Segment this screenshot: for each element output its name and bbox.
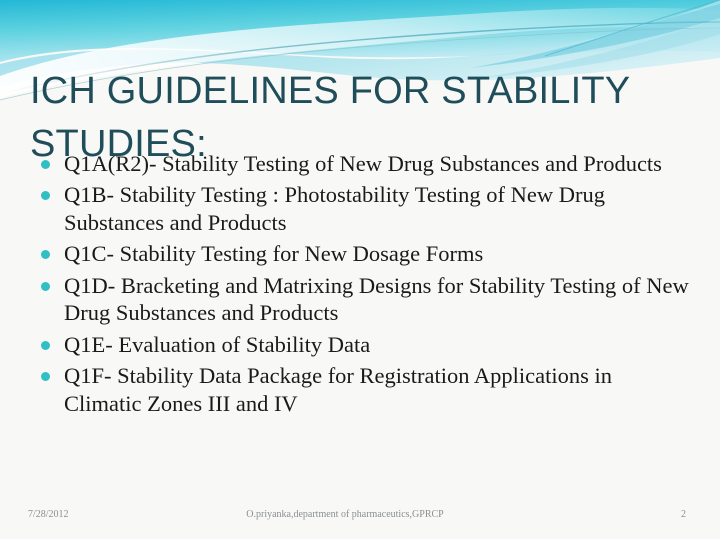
bullet-dot-icon <box>41 160 50 169</box>
bullet-dot-icon <box>41 341 50 350</box>
list-item: Q1B- Stability Testing : Photostability … <box>32 181 694 236</box>
bullet-dot-icon <box>41 250 50 259</box>
list-item: Q1E- Evaluation of Stability Data <box>32 331 694 358</box>
list-item: Q1D- Bracketing and Matrixing Designs fo… <box>32 272 694 327</box>
list-item-text: Q1F- Stability Data Package for Registra… <box>64 362 694 417</box>
bullet-dot-icon <box>41 372 50 381</box>
slide-footer: 7/28/2012 O.priyanka,department of pharm… <box>0 507 720 527</box>
bullet-dot-icon <box>41 282 50 291</box>
list-item: Q1C- Stability Testing for New Dosage Fo… <box>32 240 694 267</box>
presentation-slide: ICH GUIDELINES FOR STABILITY STUDIES: Q1… <box>0 0 720 539</box>
footer-page-number: 2 <box>681 509 686 520</box>
list-item: Q1A(R2)- Stability Testing of New Drug S… <box>32 150 694 177</box>
footer-attribution: O.priyanka,department of pharmaceutics,G… <box>0 509 720 520</box>
list-item-text: Q1B- Stability Testing : Photostability … <box>64 181 694 236</box>
list-item-text: Q1A(R2)- Stability Testing of New Drug S… <box>64 150 694 177</box>
list-item-text: Q1E- Evaluation of Stability Data <box>64 331 694 358</box>
list-item-text: Q1C- Stability Testing for New Dosage Fo… <box>64 240 694 267</box>
list-item-text: Q1D- Bracketing and Matrixing Designs fo… <box>64 272 694 327</box>
bullet-list: Q1A(R2)- Stability Testing of New Drug S… <box>32 150 694 421</box>
list-item: Q1F- Stability Data Package for Registra… <box>32 362 694 417</box>
bullet-dot-icon <box>41 191 50 200</box>
